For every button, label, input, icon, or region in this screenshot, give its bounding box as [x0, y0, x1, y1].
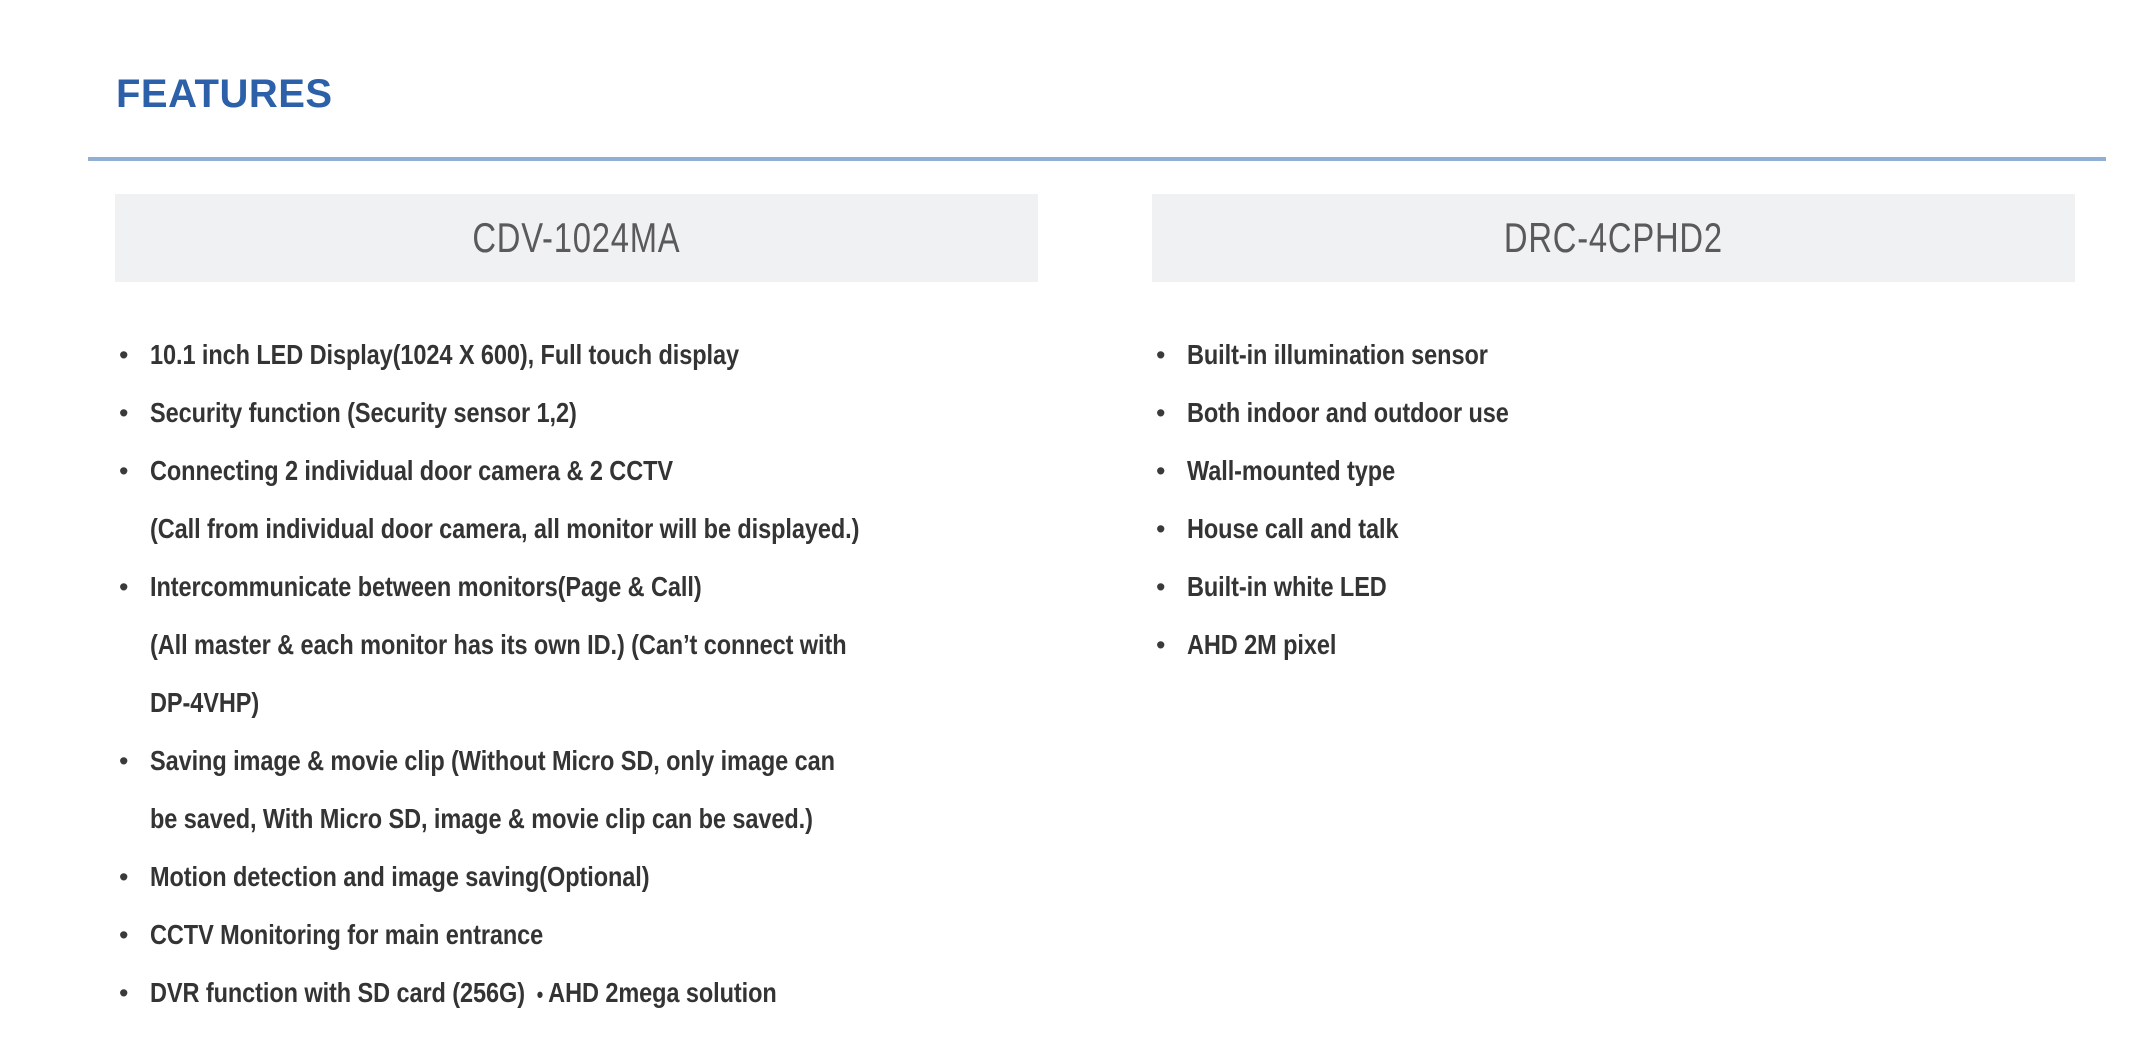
feature-text: Motion detection and image saving(Option…: [150, 848, 1038, 906]
feature-text: Built-in illumination sensor: [1187, 326, 2075, 384]
feature-subline: DP-4VHP): [150, 674, 1038, 732]
bullet-icon: •: [119, 384, 139, 442]
bullet-icon: •: [119, 442, 139, 500]
bullet-icon: •: [1156, 326, 1176, 384]
model-name-label: DRC-4CPHD2: [1504, 214, 1723, 262]
model-header-bar: DRC-4CPHD2: [1152, 194, 2075, 282]
feature-text: Both indoor and outdoor use: [1187, 384, 2075, 442]
feature-subline: (Call from individual door camera, all m…: [150, 500, 1038, 558]
feature-text-secondary: AHD 2mega solution: [548, 977, 776, 1008]
feature-list-left: •10.1 inch LED Display(1024 X 600), Full…: [115, 282, 1038, 1024]
feature-list-item: •Security function (Security sensor 1,2): [117, 384, 1038, 442]
inline-bullet-icon: •: [525, 982, 548, 1007]
feature-subline: be saved, With Micro SD, image & movie c…: [150, 790, 1038, 848]
feature-list-right: •Built-in illumination sensor•Both indoo…: [1152, 282, 2075, 674]
bullet-icon: •: [1156, 616, 1176, 674]
feature-text: Connecting 2 individual door camera & 2 …: [150, 442, 1038, 500]
bullet-icon: •: [119, 848, 139, 906]
bullet-icon: •: [119, 906, 139, 964]
page-title: FEATURES: [116, 72, 333, 116]
product-column-drc-4cphd2: DRC-4CPHD2 •Built-in illumination sensor…: [1152, 194, 2075, 674]
feature-list-item: •Intercommunicate between monitors(Page …: [117, 558, 1038, 732]
feature-text: Wall-mounted type: [1187, 442, 2075, 500]
feature-list-item: •10.1 inch LED Display(1024 X 600), Full…: [117, 326, 1038, 384]
bullet-icon: •: [119, 732, 139, 790]
feature-list-item: •CCTV Monitoring for main entrance: [117, 906, 1038, 964]
feature-list-item: •Connecting 2 individual door camera & 2…: [117, 442, 1038, 558]
bullet-icon: •: [1156, 384, 1176, 442]
bullet-icon: •: [1156, 500, 1176, 558]
product-column-cdv-1024ma: CDV-1024MA •10.1 inch LED Display(1024 X…: [115, 194, 1038, 1024]
feature-text: Built-in white LED: [1187, 558, 2075, 616]
feature-list-item: •Built-in white LED: [1154, 558, 2075, 616]
feature-subline: (All master & each monitor has its own I…: [150, 616, 1038, 674]
bullet-icon: •: [119, 326, 139, 384]
feature-list-item: •Saving image & movie clip (Without Micr…: [117, 732, 1038, 848]
feature-text: CCTV Monitoring for main entrance: [150, 906, 1038, 964]
feature-list-item: •Wall-mounted type: [1154, 442, 2075, 500]
feature-list-item: •Both indoor and outdoor use: [1154, 384, 2075, 442]
bullet-icon: •: [119, 964, 139, 1022]
model-name-label: CDV-1024MA: [472, 214, 680, 262]
feature-text: House call and talk: [1187, 500, 2075, 558]
feature-list-item: •Built-in illumination sensor: [1154, 326, 2075, 384]
feature-text: DVR function with SD card (256G)•AHD 2me…: [150, 964, 1038, 1024]
feature-list-item: •Motion detection and image saving(Optio…: [117, 848, 1038, 906]
feature-text: Intercommunicate between monitors(Page &…: [150, 558, 1038, 616]
feature-list-item: •House call and talk: [1154, 500, 2075, 558]
feature-text: AHD 2M pixel: [1187, 616, 2075, 674]
feature-text: Saving image & movie clip (Without Micro…: [150, 732, 1038, 790]
feature-text: Security function (Security sensor 1,2): [150, 384, 1038, 442]
feature-list-item: •DVR function with SD card (256G)•AHD 2m…: [117, 964, 1038, 1024]
bullet-icon: •: [1156, 558, 1176, 616]
feature-text: 10.1 inch LED Display(1024 X 600), Full …: [150, 326, 1038, 384]
bullet-icon: •: [1156, 442, 1176, 500]
bullet-icon: •: [119, 558, 139, 616]
model-header-bar: CDV-1024MA: [115, 194, 1038, 282]
title-divider-rule: [88, 157, 2106, 161]
feature-list-item: •AHD 2M pixel: [1154, 616, 2075, 674]
